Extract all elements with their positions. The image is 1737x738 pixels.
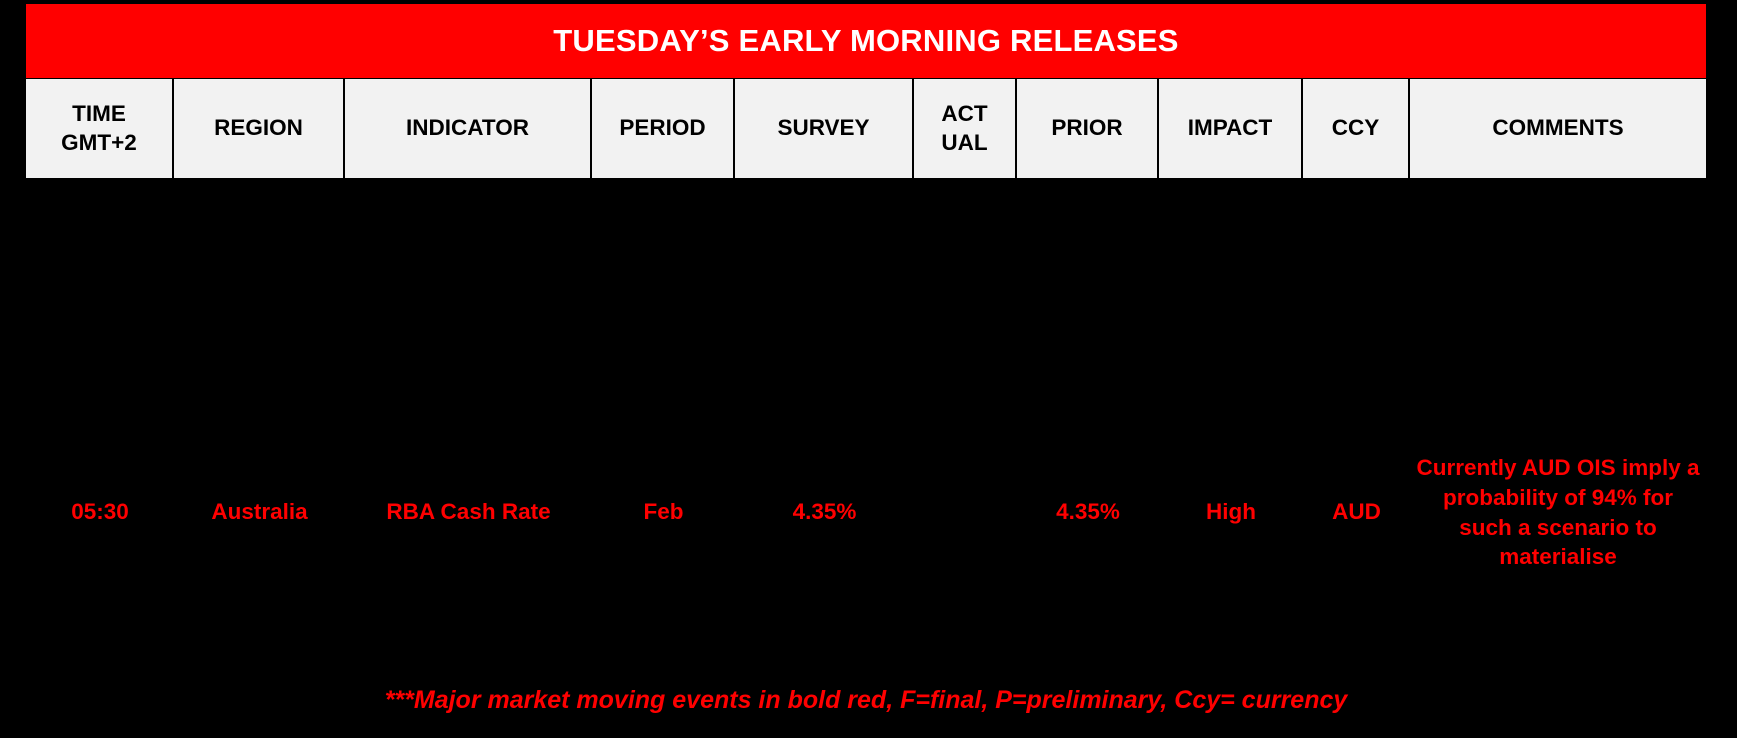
column-header-survey: SURVEY	[735, 79, 914, 178]
column-header-comments: COMMENTS	[1410, 79, 1706, 178]
cell-indicator: RBA Cash Rate	[345, 405, 592, 620]
economic-calendar-page: TUESDAY’S EARLY MORNING RELEASES TIME GM…	[0, 0, 1737, 738]
column-header-ccy-label: CCY	[1332, 114, 1380, 143]
table-title-banner: TUESDAY’S EARLY MORNING RELEASES	[26, 4, 1706, 78]
cell-period: Feb	[592, 405, 735, 620]
cell-survey: 4.35%	[735, 405, 914, 620]
column-header-region-label: REGION	[214, 114, 303, 143]
cell-time: 05:30	[26, 405, 174, 620]
cell-prior: 4.35%	[1017, 405, 1159, 620]
column-header-impact-label: IMPACT	[1188, 114, 1273, 143]
column-header-prior: PRIOR	[1017, 79, 1159, 178]
column-header-impact: IMPACT	[1159, 79, 1303, 178]
cell-ccy: AUD	[1303, 405, 1410, 620]
column-header-prior-label: PRIOR	[1051, 114, 1122, 143]
column-header-time: TIME GMT+2	[26, 79, 174, 178]
column-header-actual-label: ACT UAL	[941, 100, 987, 158]
column-header-survey-label: SURVEY	[777, 114, 869, 143]
column-header-indicator: INDICATOR	[345, 79, 592, 178]
cell-impact: High	[1159, 405, 1303, 620]
footnote: ***Major market moving events in bold re…	[26, 686, 1706, 715]
page-title: TUESDAY’S EARLY MORNING RELEASES	[553, 23, 1178, 59]
column-header-period: PERIOD	[592, 79, 735, 178]
column-header-period-label: PERIOD	[619, 114, 705, 143]
column-header-actual: ACT UAL	[914, 79, 1017, 178]
cell-region: Australia	[174, 405, 345, 620]
table-header-row: TIME GMT+2 REGION INDICATOR PERIOD SURVE…	[26, 79, 1706, 182]
table-row: 05:30 Australia RBA Cash Rate Feb 4.35% …	[26, 405, 1706, 620]
cell-comments: Currently AUD OIS imply a probability of…	[1410, 405, 1706, 620]
column-header-time-label: TIME GMT+2	[61, 100, 137, 158]
column-header-region: REGION	[174, 79, 345, 178]
column-header-comments-label: COMMENTS	[1492, 114, 1623, 143]
cell-actual	[914, 405, 1017, 620]
column-header-ccy: CCY	[1303, 79, 1410, 178]
column-header-indicator-label: INDICATOR	[406, 114, 529, 143]
